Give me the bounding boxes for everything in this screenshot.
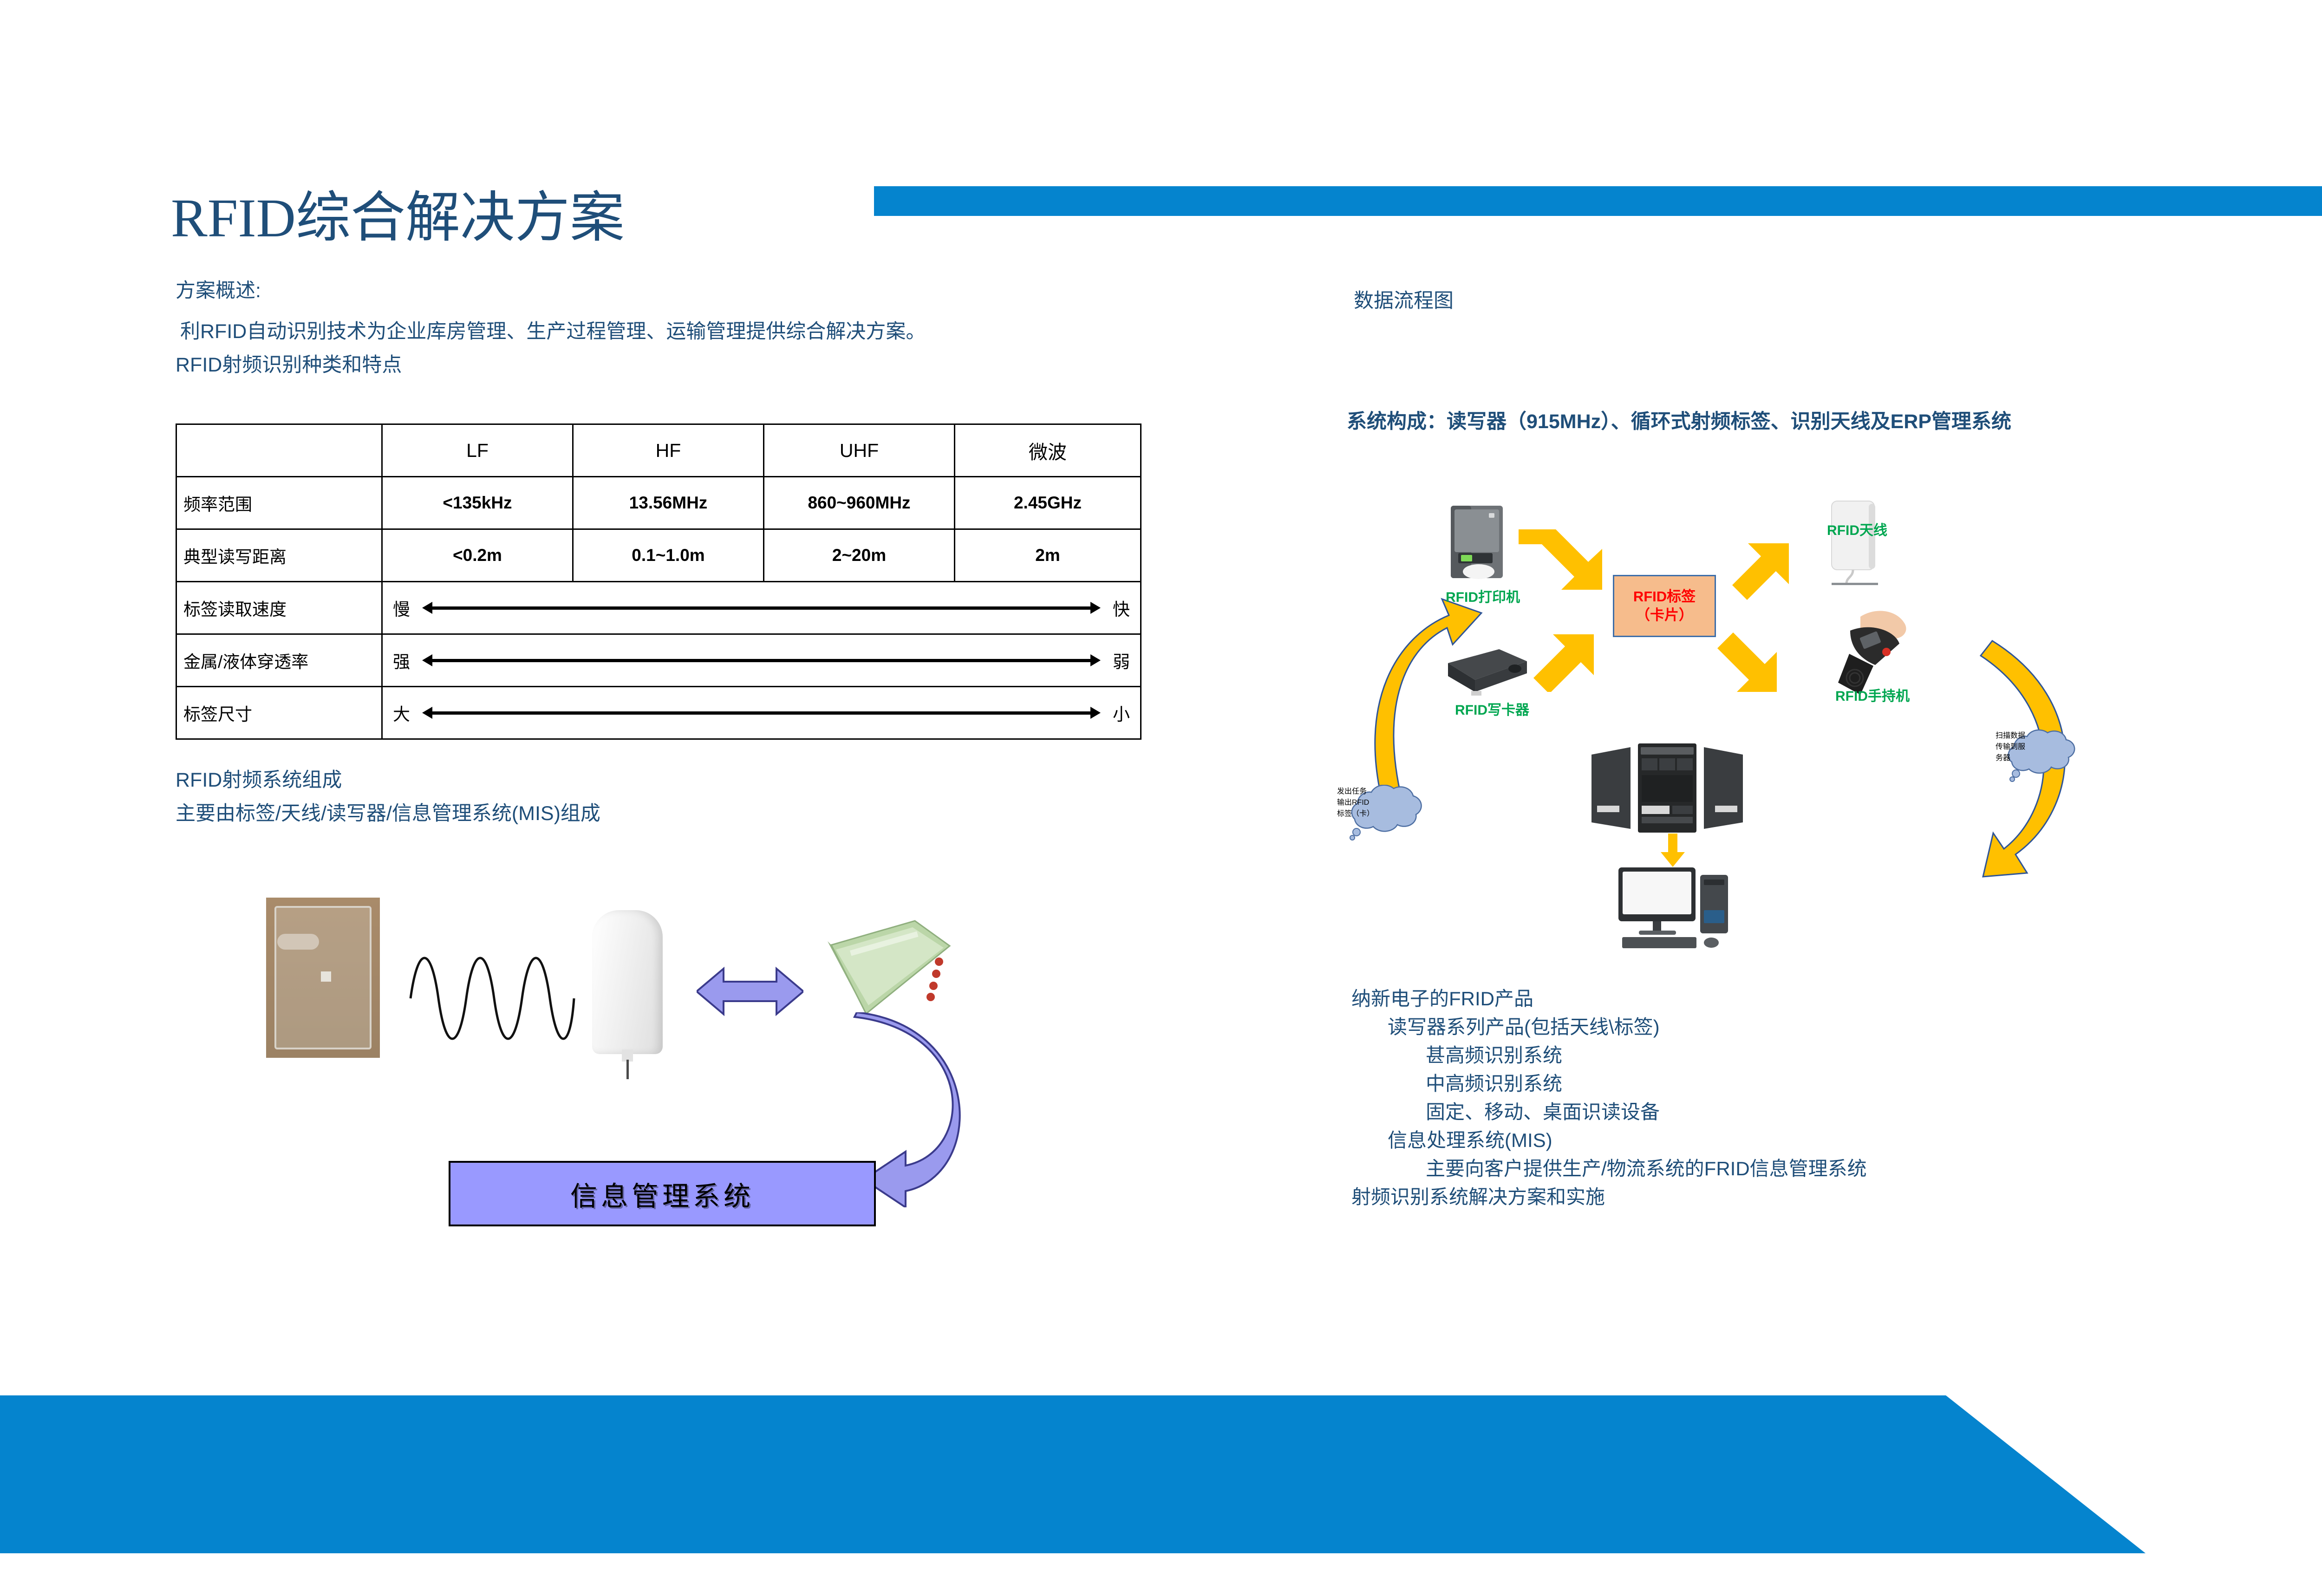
system-composition-label: RFID射频系统组成 [176, 767, 342, 793]
table-cell: <135kHz [382, 477, 573, 529]
table-header-row: LF HF UHF 微波 [176, 424, 1141, 477]
table-cell: <0.2m [382, 529, 573, 582]
row-label: 标签尺寸 [176, 687, 382, 739]
row-label: 频率范围 [176, 477, 382, 529]
table-row: 频率范围 <135kHz 13.56MHz 860~960MHz 2.45GHz [176, 477, 1141, 529]
table-cell: 2~20m [764, 529, 955, 582]
top-accent-bar [874, 186, 2322, 216]
product-bullet-list: 纳新电子的FRID产品 读写器系列产品(包括天线\标签) 甚高频识别系统 中高频… [1351, 984, 1867, 1211]
rfid-handheld-image [1825, 604, 1918, 697]
table-header-cell: LF [382, 424, 573, 477]
antenna-label: RFID天线 [1827, 519, 1887, 539]
cloud-callout-left: 发出任务 输出RFID 标签（卡） [1337, 785, 1438, 843]
cloud-left-line1: 发出任务 [1337, 785, 1438, 796]
table-header-cell: HF [573, 424, 764, 477]
table-header-cell: UHF [764, 424, 955, 477]
card-writer-label: RFID写卡器 [1455, 698, 1529, 719]
overview-body: 利RFID自动识别技术为企业库房管理、生产过程管理、运输管理提供综合解决方案。 [180, 319, 926, 345]
rfid-printer-image [1444, 499, 1514, 583]
rfid-reader-photo [822, 917, 952, 1017]
list-item: 纳新电子的FRID产品 [1351, 984, 1867, 1013]
table-row: 标签尺寸 大 小 [176, 687, 1141, 739]
cloud-left-line3: 标签（卡） [1337, 807, 1438, 818]
table-cell: 2m [955, 529, 1141, 582]
double-headed-arrow-icon [422, 707, 1101, 719]
cloud-right-line1: 扫描数据 [1996, 729, 2088, 740]
arrow-right-label: 弱 [1113, 648, 1130, 673]
server-to-desktop-arrow [1659, 834, 1687, 867]
table-header-cell [176, 424, 382, 477]
mis-box: 信息管理系统 [449, 1161, 876, 1226]
gradient-arrow-cell: 慢 快 [382, 582, 1141, 634]
double-headed-arrow-icon [422, 602, 1101, 614]
cloud-right-line2: 传输到服 [1996, 740, 2088, 751]
rfid-card-writer-image [1444, 645, 1530, 697]
table-cell: 13.56MHz [573, 477, 764, 529]
table-row: 典型读写距离 <0.2m 0.1~1.0m 2~20m 2m [176, 529, 1141, 582]
rfid-tag-box: RFID标签 （卡片） [1613, 575, 1716, 637]
list-item: 读写器系列产品(包括天线\标签) [1388, 1013, 1867, 1041]
overview-label: 方案概述: [176, 278, 261, 304]
cloud-left-line2: 输出RFID [1337, 796, 1438, 807]
table-row: 标签读取速度 慢 快 [176, 582, 1141, 634]
bottom-accent-banner [0, 1395, 2322, 1553]
bidirectional-arrow [697, 961, 803, 1022]
list-item: 射频识别系统解决方案和实施 [1351, 1183, 1867, 1211]
row-label: 典型读写距离 [176, 529, 382, 582]
arrow-right-label: 快 [1113, 595, 1130, 620]
table-row: 金属/液体穿透率 强 弱 [176, 634, 1141, 687]
panel-antenna-image [1830, 499, 1881, 585]
rf-wave-graphic [409, 943, 576, 1054]
server-rack-image [1586, 741, 1748, 836]
data-flow-label: 数据流程图 [1354, 288, 1454, 314]
list-item: 固定、移动、桌面识读设备 [1426, 1098, 1867, 1126]
arrow-left-label: 强 [393, 648, 410, 673]
handheld-label: RFID手持机 [1835, 684, 1910, 705]
arrow-right-label: 小 [1113, 700, 1130, 725]
system-composition-body: 主要由标签/天线/读写器/信息管理系统(MIS)组成 [176, 801, 600, 827]
list-item: 主要向客户提供生产/物流系统的FRID信息管理系统 [1426, 1154, 1867, 1183]
table-cell: 860~960MHz [764, 477, 955, 529]
rfid-tag-box-line1: RFID标签 [1633, 587, 1696, 606]
list-item: 中高频识别系统 [1426, 1069, 1867, 1098]
gradient-arrow-cell: 大 小 [382, 687, 1141, 739]
table-header-cell: 微波 [955, 424, 1141, 477]
kinds-label: RFID射频识别种类和特点 [176, 352, 402, 378]
list-item: 信息处理系统(MIS) [1388, 1126, 1867, 1154]
table-cell: 0.1~1.0m [573, 529, 764, 582]
cloud-callout-right: 扫描数据 传输到服 务器 [1996, 729, 2088, 784]
double-headed-arrow-icon [422, 654, 1101, 666]
row-label: 标签读取速度 [176, 582, 382, 634]
arrow-left-label: 慢 [393, 595, 410, 620]
cloud-right-line3: 务器 [1996, 751, 2088, 762]
list-item: 甚高频识别系统 [1426, 1041, 1867, 1069]
rfid-comparison-table: LF HF UHF 微波 频率范围 <135kHz 13.56MHz 860~9… [176, 423, 1141, 740]
antenna-photo [592, 910, 663, 1068]
gradient-arrow-cell: 强 弱 [382, 634, 1141, 687]
desktop-computer-image [1614, 864, 1739, 950]
system-architecture-label: 系统构成：读写器（915MHz）、循环式射频标签、识别天线及ERP管理系统 [1347, 409, 2011, 435]
arrow-left-label: 大 [393, 700, 410, 725]
rfid-tag-photo [266, 898, 380, 1058]
row-label: 金属/液体穿透率 [176, 634, 382, 687]
page-title: RFID综合解决方案 [171, 186, 867, 251]
rfid-tag-box-line2: （卡片） [1636, 606, 1693, 625]
table-cell: 2.45GHz [955, 477, 1141, 529]
printer-label: RFID打印机 [1446, 586, 1520, 606]
